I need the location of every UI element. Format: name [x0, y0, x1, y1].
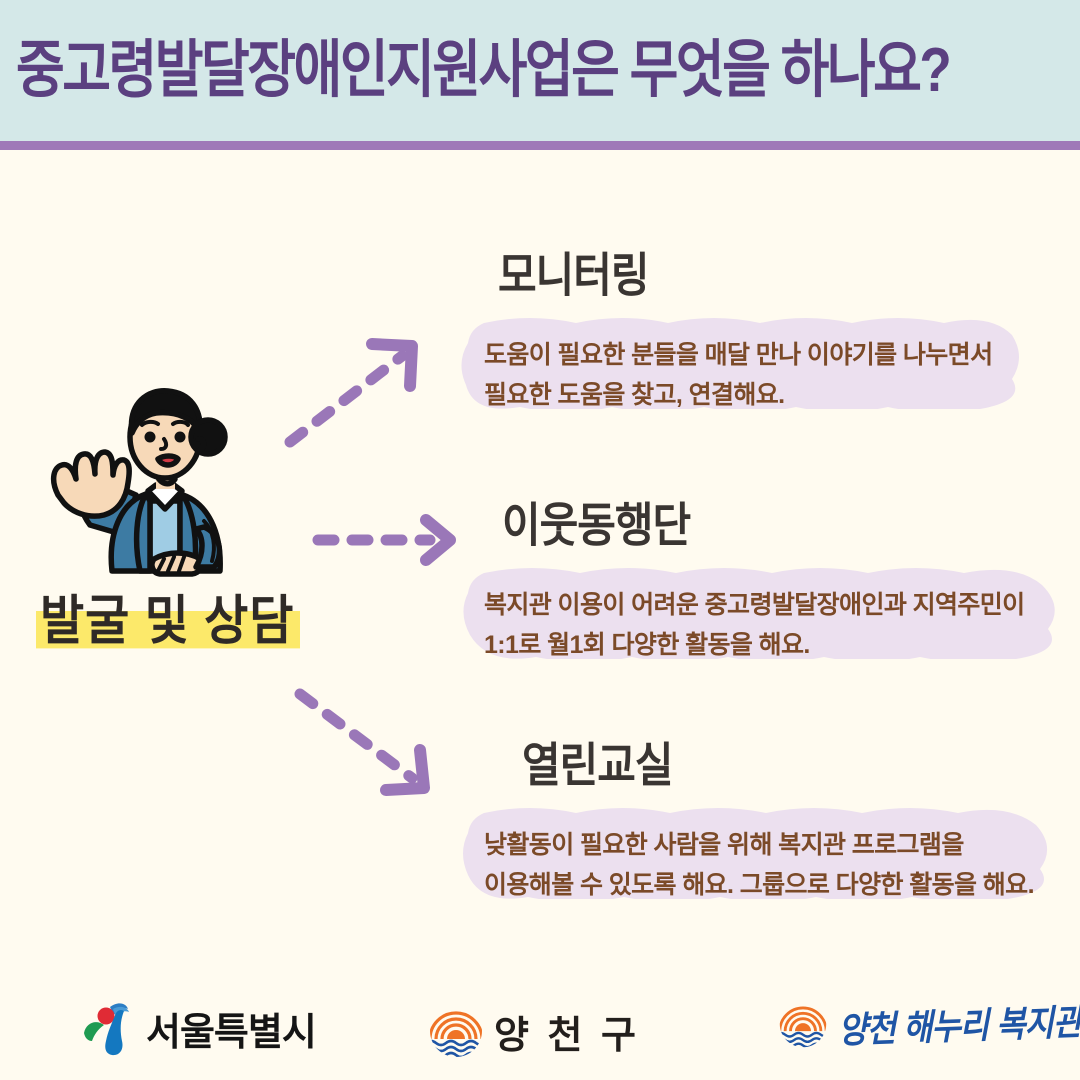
- haenuri-emblem-icon: [778, 999, 828, 1049]
- left-stage-label-text: 발굴 및 상담: [40, 592, 294, 650]
- yangcheon-emblem-icon: [428, 1003, 484, 1059]
- section-heading: 모니터링: [460, 252, 1020, 299]
- section-description-bubble: 낮활동이 필요한 사람을 위해 복지관 프로그램을 이용해볼 수 있도록 해요.…: [460, 807, 1052, 899]
- section-description-line: 복지관 이용이 어려운 중고령발달장애인과 지역주민이: [484, 585, 1034, 625]
- page-title: 중고령발달장애인지원사업은 무엇을 하나요?: [0, 39, 949, 102]
- page-header: 중고령발달장애인지원사업은 무엇을 하나요?: [0, 0, 1080, 141]
- seoul-metropolitan-government-logo: 서울특별시: [80, 999, 316, 1057]
- dashed-arrow-down-right-icon: [290, 680, 460, 805]
- left-stage-label: 발굴 및 상담: [40, 592, 340, 654]
- haenuri-logo-text: 양천 해누리 복지관: [837, 994, 1080, 1054]
- yangcheon-logo-text: 양 천 구: [494, 1004, 640, 1059]
- info-section-neighbor-companion: 이웃동행단 복지관 이용이 어려운 중고령발달장애인과 지역주민이 1:1로 월…: [460, 505, 1060, 659]
- section-description-line: 도움이 필요한 분들을 매달 만나 이야기를 나누면서: [484, 335, 994, 375]
- dashed-arrow-up-right-icon: [280, 330, 450, 455]
- section-heading: 열린교실: [460, 742, 1052, 789]
- yangcheon-gu-office-logo: 양 천 구: [428, 1003, 640, 1059]
- info-section-open-classroom: 열린교실 낮활동이 필요한 사람을 위해 복지관 프로그램을 이용해볼 수 있도…: [460, 745, 1052, 899]
- content-canvas: 발굴 및 상담 모니터링 도움이 필요한 분들을 매달 만나 이야기를 나누면서…: [0, 150, 1080, 1080]
- section-description-bubble: 도움이 필요한 분들을 매달 만나 이야기를 나누면서 필요한 도움을 찾고, …: [460, 317, 1020, 409]
- seoul-emblem-icon: [80, 999, 136, 1057]
- yangcheon-haenuri-welfare-center-logo: 양천 해누리 복지관: [778, 999, 1080, 1049]
- section-description-line: 필요한 도움을 찾고, 연결해요.: [484, 375, 994, 415]
- section-description-line: 이용해볼 수 있도록 해요. 그룹으로 다양한 활동을 해요.: [484, 865, 1026, 905]
- section-heading: 이웃동행단: [460, 502, 1060, 549]
- header-divider-rule: [0, 141, 1080, 150]
- footer-logo-bar: 서울특별시 양 천 구: [0, 985, 1080, 1080]
- section-description-line: 1:1로 월1회 다양한 활동을 해요.: [484, 625, 1034, 665]
- info-section-monitoring: 모니터링 도움이 필요한 분들을 매달 만나 이야기를 나누면서 필요한 도움을…: [460, 255, 1020, 409]
- section-description-bubble: 복지관 이용이 어려운 중고령발달장애인과 지역주민이 1:1로 월1회 다양한…: [460, 567, 1060, 659]
- dashed-arrow-right-icon: [310, 510, 470, 570]
- section-description-line: 낮활동이 필요한 사람을 위해 복지관 프로그램을: [484, 825, 1026, 865]
- seoul-logo-text: 서울특별시: [146, 1001, 316, 1056]
